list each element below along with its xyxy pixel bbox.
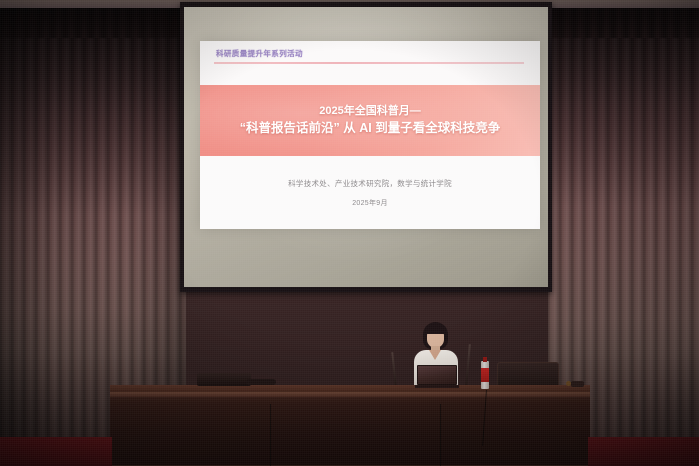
laptop-screen xyxy=(417,365,457,385)
laptop xyxy=(415,365,459,388)
carpet-right xyxy=(588,437,699,466)
carpet-left xyxy=(0,437,112,466)
desk-equipment-left xyxy=(197,373,251,386)
presentation-slide: 科研质量提升年系列活动 2025年全国科普月— “科普报告话前沿” 从 AI 到… xyxy=(200,41,540,229)
laptop-base xyxy=(415,385,459,388)
podium-seam xyxy=(270,404,271,466)
slide-header: 科研质量提升年系列活动 xyxy=(200,41,540,85)
podium-seam xyxy=(440,404,441,466)
projection-screen-frame: 科研质量提升年系列活动 2025年全国科普月— “科普报告话前沿” 从 AI 到… xyxy=(180,2,552,292)
slide-divider-rule xyxy=(214,62,524,64)
slide-kicker-text: 科研质量提升年系列活动 xyxy=(216,48,303,59)
bottle-label xyxy=(481,368,489,382)
projection-screen-surface: 科研质量提升年系列活动 2025年全国科普月— “科普报告话前沿” 从 AI 到… xyxy=(184,7,548,287)
presenter-fringe xyxy=(424,325,447,334)
desk-cable-left xyxy=(246,379,276,385)
slide-title-band: 2025年全国科普月— “科普报告话前沿” 从 AI 到量子看全球科技竞争 xyxy=(200,85,540,156)
slide-footer: 科学技术处、产业技术研究院，数学与统计学院 2025年9月 xyxy=(200,156,540,229)
stage-curtain-right xyxy=(548,8,699,440)
stage-curtain-left xyxy=(0,8,186,440)
desk-object-right xyxy=(571,381,584,387)
slide-date: 2025年9月 xyxy=(352,198,388,208)
slide-organizers: 科学技术处、产业技术研究院，数学与统计学院 xyxy=(288,178,452,189)
podium xyxy=(110,392,590,466)
slide-title-line-1: 2025年全国科普月— xyxy=(319,105,420,119)
bottle-cap xyxy=(483,357,487,362)
lecture-hall-scene: 科研质量提升年系列活动 2025年全国科普月— “科普报告话前沿” 从 AI 到… xyxy=(0,0,699,466)
slide-title-line-2: “科普报告话前沿” 从 AI 到量子看全球科技竞争 xyxy=(240,121,500,137)
curtain-shading-right xyxy=(548,8,699,440)
podium-top-edge xyxy=(110,392,590,397)
water-bottle xyxy=(481,357,489,389)
curtain-shading-left xyxy=(0,8,186,440)
